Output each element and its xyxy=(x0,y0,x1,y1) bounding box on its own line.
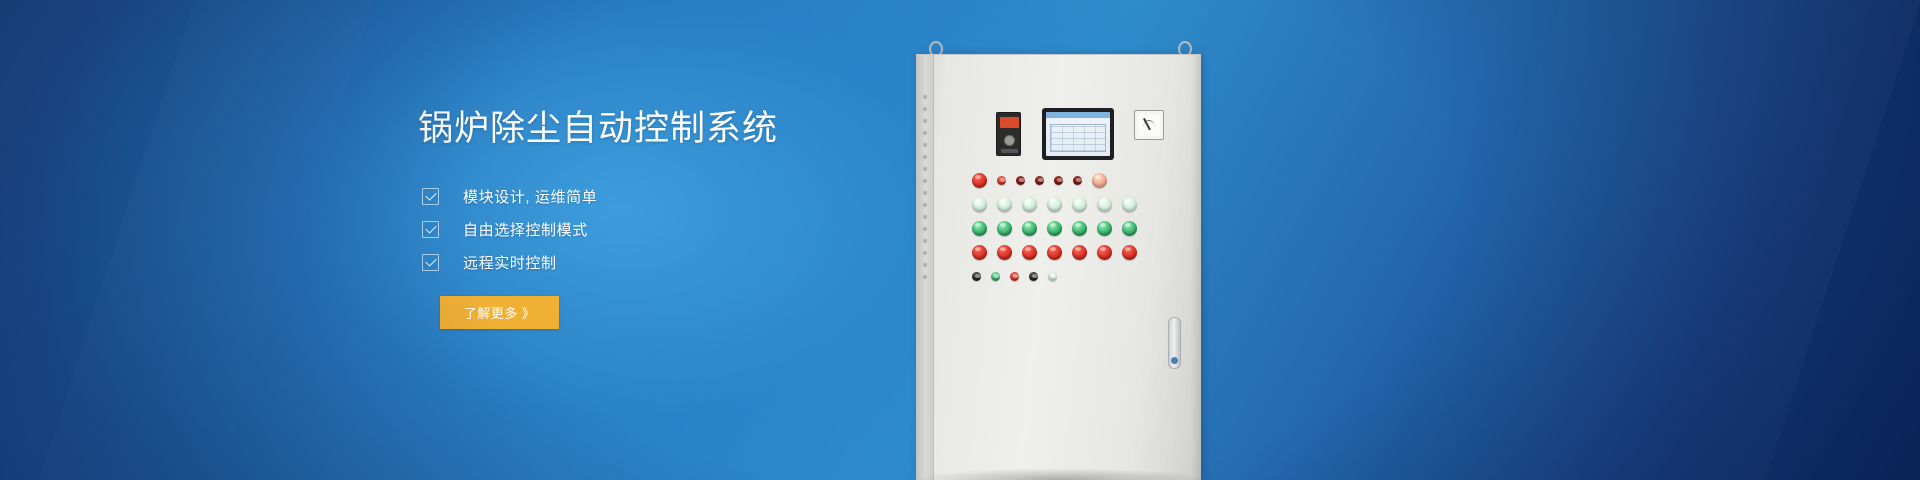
indicator-lamp-red xyxy=(972,245,987,260)
background-light-streak xyxy=(1366,0,1920,480)
drop-shadow xyxy=(910,468,1210,480)
meter-display xyxy=(1000,117,1019,128)
indicator-lamp-red xyxy=(997,245,1012,260)
selector-switch-black xyxy=(972,272,981,281)
cabinet-edge-shadow xyxy=(1191,55,1201,480)
indicator-lamp-green xyxy=(991,272,1000,281)
indicator-lamp-darkred xyxy=(1016,176,1025,185)
indicator-lamp-grid xyxy=(972,173,1172,290)
gauge-face xyxy=(1138,114,1160,136)
list-item: 远程实时控制 xyxy=(422,246,597,279)
meter-buttons xyxy=(1001,149,1018,153)
digital-meter xyxy=(996,112,1021,156)
learn-more-label: 了解更多 》 xyxy=(464,303,536,322)
lamp-row xyxy=(972,221,1172,236)
lamp-row xyxy=(972,245,1172,260)
feature-label: 远程实时控制 xyxy=(463,252,557,273)
indicator-lamp-peach xyxy=(1092,173,1107,188)
lock-icon xyxy=(1171,357,1178,364)
cabinet-hinge-strip xyxy=(916,55,934,480)
list-item: 模块设计, 运维简单 xyxy=(422,180,597,213)
indicator-lamp-pale-green xyxy=(1072,197,1087,212)
checkbox-check-icon xyxy=(422,254,439,271)
indicator-lamp-green xyxy=(1022,221,1037,236)
product-image xyxy=(900,0,1320,480)
indicator-lamp-pale-green xyxy=(1047,197,1062,212)
lamp-row xyxy=(972,173,1172,188)
indicator-lamp-pale-green xyxy=(1097,197,1112,212)
indicator-lamp-green xyxy=(1122,221,1137,236)
hmi-title-bar xyxy=(1046,112,1110,118)
indicator-lamp-red xyxy=(1047,245,1062,260)
checkbox-check-icon xyxy=(422,188,439,205)
indicator-lamp-pale-green xyxy=(1048,272,1057,281)
selector-switch-black xyxy=(1029,272,1038,281)
analog-gauge xyxy=(1134,110,1164,140)
meter-knob-icon xyxy=(1004,135,1015,146)
control-cabinet xyxy=(916,54,1201,480)
indicator-lamp-red xyxy=(1022,245,1037,260)
indicator-lamp-pale-green xyxy=(1022,197,1037,212)
lamp-row-switches xyxy=(972,269,1172,281)
indicator-lamp-pale-green xyxy=(1122,197,1137,212)
indicator-lamp-red xyxy=(1122,245,1137,260)
indicator-lamp-red xyxy=(1097,245,1112,260)
page-title: 锅炉除尘自动控制系统 xyxy=(418,108,778,150)
cabinet-handle xyxy=(1168,317,1181,369)
background-light-streak xyxy=(0,0,284,480)
hero-banner: 锅炉除尘自动控制系统 模块设计, 运维简单 自由选择控制模式 远程实时控制 了解… xyxy=(0,0,1920,480)
learn-more-button[interactable]: 了解更多 》 xyxy=(440,296,559,329)
checkbox-check-icon xyxy=(422,221,439,238)
feature-label: 自由选择控制模式 xyxy=(463,219,588,240)
indicator-lamp-red xyxy=(1010,272,1019,281)
indicator-lamp-red xyxy=(997,176,1006,185)
indicator-lamp-green xyxy=(1047,221,1062,236)
indicator-lamp-pale-green xyxy=(997,197,1012,212)
indicator-lamp-darkred xyxy=(1073,176,1082,185)
indicator-lamp-red xyxy=(1072,245,1087,260)
banner-content: 锅炉除尘自动控制系统 模块设计, 运维简单 自由选择控制模式 远程实时控制 了解… xyxy=(418,0,978,480)
indicator-lamp-green xyxy=(1072,221,1087,236)
feature-label: 模块设计, 运维简单 xyxy=(463,186,597,207)
indicator-lamp-darkred xyxy=(1054,176,1063,185)
background-light-streak xyxy=(6,0,413,480)
feature-list: 模块设计, 运维简单 自由选择控制模式 远程实时控制 xyxy=(422,180,597,279)
indicator-lamp-red xyxy=(972,173,987,188)
indicator-lamp-darkred xyxy=(1035,176,1044,185)
indicator-lamp-green xyxy=(972,221,987,236)
hmi-touch-panel xyxy=(1042,108,1114,160)
indicator-lamp-green xyxy=(1097,221,1112,236)
lamp-row xyxy=(972,197,1172,212)
list-item: 自由选择控制模式 xyxy=(422,213,597,246)
indicator-lamp-pale-green xyxy=(972,197,987,212)
hmi-data-grid xyxy=(1050,124,1106,152)
indicator-lamp-green xyxy=(997,221,1012,236)
hmi-screen xyxy=(1046,112,1110,156)
